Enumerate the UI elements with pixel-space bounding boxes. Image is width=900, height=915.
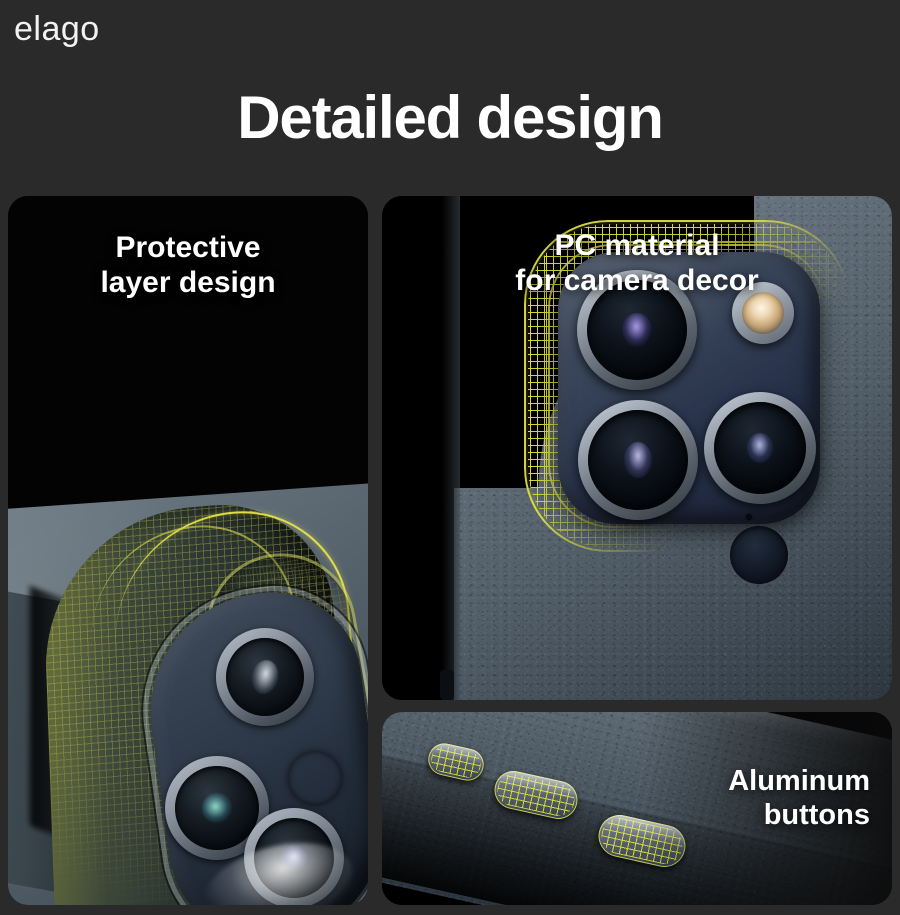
- product-feature-page: elago Detailed design: [0, 0, 900, 915]
- page-title: Detailed design: [0, 86, 900, 149]
- lens-iris-highlight: [622, 313, 652, 347]
- flash-core: [742, 292, 784, 334]
- lens-glass: [587, 280, 687, 380]
- lens-glass: [714, 402, 806, 494]
- lens-specular-highlight: [202, 793, 232, 823]
- camera-flash: [289, 752, 341, 804]
- lens-glass: [588, 410, 688, 510]
- case-bottom-notch: [440, 670, 454, 700]
- aluminum-buttons-text-scrim: [642, 712, 892, 905]
- feature-card-aluminum-buttons: Aluminum buttons: [382, 712, 892, 905]
- feature-card-protective-layer: Protective layer design: [8, 196, 368, 905]
- camera-lens-bottom-left: [578, 400, 698, 520]
- lens-glass: [226, 638, 304, 716]
- aluminum-buttons-illustration: [382, 712, 892, 905]
- lens-iris-highlight: [624, 442, 652, 478]
- lens-iris-highlight: [747, 433, 773, 463]
- camera-lens-right: [704, 392, 816, 504]
- lens-glass: [175, 766, 259, 850]
- microphone-hole: [746, 514, 752, 520]
- protective-layer-illustration: [8, 196, 368, 905]
- lens-specular-highlight: [249, 658, 282, 697]
- feature-card-grid: Protective layer design: [8, 196, 892, 905]
- camera-lens-top-left: [577, 270, 697, 390]
- camera-decor-illustration: [382, 196, 892, 700]
- camera-flash: [732, 282, 794, 344]
- brand-logo: elago: [14, 12, 100, 46]
- lidar-sensor: [730, 526, 788, 584]
- case-left-edge: [442, 196, 460, 700]
- feature-card-camera-decor: PC material for camera decor: [382, 196, 892, 700]
- camera-lens-top: [216, 628, 314, 726]
